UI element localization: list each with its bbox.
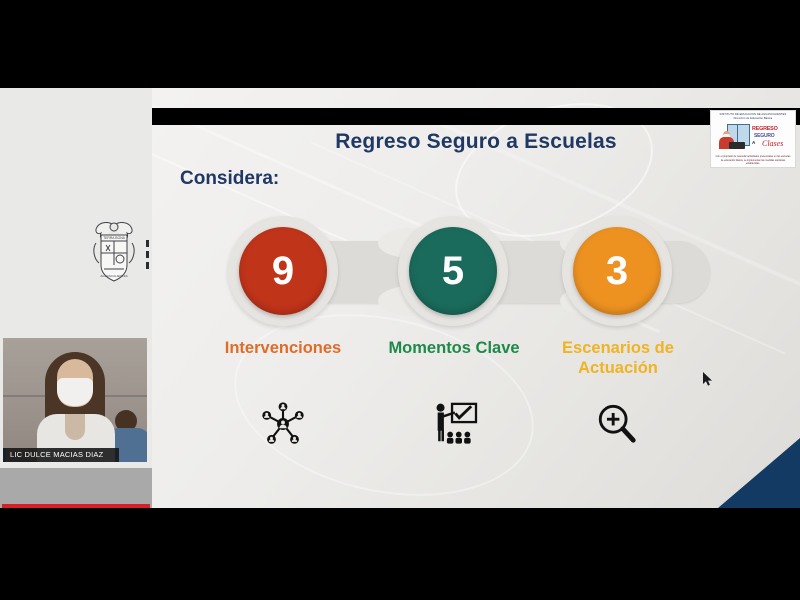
- slide-title: Regreso Seguro a Escuelas: [152, 130, 800, 154]
- network-hub-icon: [228, 398, 338, 450]
- logo-footer-text: Con el propósito de reanudar actividades…: [715, 155, 791, 165]
- slide-corner-accent: [718, 438, 800, 508]
- screen-capture-root: TERRA BONA AGUASCALIENTES LIC DULCE MACI…: [0, 0, 800, 600]
- panel-edge-marks: [146, 240, 149, 274]
- step-node-1[interactable]: 9: [228, 216, 338, 326]
- logo-institution-text: INSTITUTO DE EDUCACIÓN DE AGUASCALIENTES…: [715, 113, 791, 122]
- shared-screen-left-column: TERRA BONA AGUASCALIENTES LIC DULCE MACI…: [0, 88, 152, 508]
- avatar: [39, 352, 111, 462]
- left-column-red-accent-line: [2, 504, 150, 508]
- svg-text:TERRA BONA: TERRA BONA: [103, 236, 126, 240]
- participant-name-label: LIC DULCE MACIAS DIAZ: [3, 448, 119, 462]
- webcam-video-tile[interactable]: LIC DULCE MACIAS DIAZ: [3, 338, 147, 462]
- teacher-presentation-icon: [398, 398, 508, 450]
- step-number-badge-3: 3: [573, 227, 661, 315]
- presentation-slide: INSTITUTO DE EDUCACIÓN DE AGUASCALIENTES…: [152, 88, 800, 508]
- three-step-diagram: 9 Intervenciones: [228, 216, 728, 326]
- step-node-2[interactable]: 5: [398, 216, 508, 326]
- slide-subtitle: Considera:: [180, 168, 279, 190]
- step-label-1: Intervenciones: [188, 338, 378, 358]
- step-node-3[interactable]: 3: [562, 216, 672, 326]
- step-label-2: Momentos Clave: [359, 338, 549, 358]
- step-number-badge-2: 5: [409, 227, 497, 315]
- svg-text:AGUASCALIENTES: AGUASCALIENTES: [100, 274, 127, 278]
- left-column-lower-band: [0, 468, 152, 508]
- slide-top-black-bar: [152, 108, 800, 125]
- magnifier-plus-icon: [562, 398, 672, 450]
- step-label-3: Escenarios de Actuación: [523, 338, 713, 378]
- coat-of-arms-emblem: TERRA BONA AGUASCALIENTES: [88, 219, 140, 285]
- step-number-badge-1: 9: [239, 227, 327, 315]
